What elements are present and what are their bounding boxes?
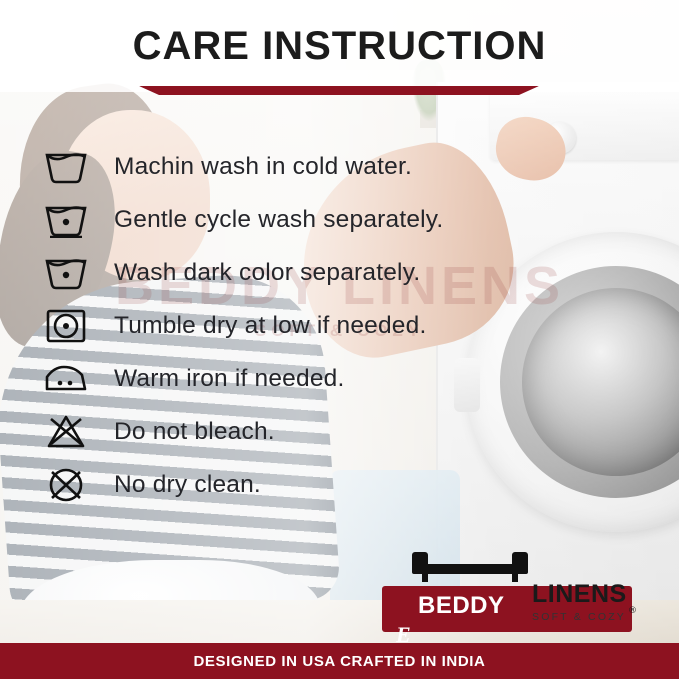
do-not-bleach-icon [40,410,92,454]
tumble-dry-low-icon [40,304,92,348]
instruction-list: Machin wash in cold water. Gentle cycle … [40,140,600,511]
footer-bar: DESIGNED IN USA CRAFTED IN INDIA [0,643,679,679]
brand-logo: E BEDDY LINENS ® SOFT & COZY [382,556,632,642]
care-instruction-card: BEDDY LINENS SOFT & COZY CARE INSTRUCTIO… [0,0,679,679]
registered-mark: ® [628,606,637,616]
footer-text: DESIGNED IN USA CRAFTED IN INDIA [194,653,486,670]
logo-right-block: LINENS ® SOFT & COZY [532,580,636,623]
logo-word: LINENS [532,580,636,609]
list-item-label: Do not bleach. [114,418,275,446]
no-dry-clean-icon [40,463,92,507]
page-title: CARE INSTRUCTION [0,24,679,69]
title-underline-rule [139,86,539,95]
list-item: No dry clean. [40,458,600,511]
list-item-label: Gentle cycle wash separately. [114,206,443,234]
list-item: Gentle cycle wash separately. [40,193,600,246]
machine-wash-icon [40,145,92,189]
logo-tagline: SOFT & COZY [532,611,636,623]
list-item: Machin wash in cold water. [40,140,600,193]
gentle-cycle-wash-icon [40,198,92,242]
list-item-label: Wash dark color separately. [114,259,420,287]
wash-dark-color-icon [40,251,92,295]
logo-brand-name: BEDDY [418,592,505,620]
list-item-label: Tumble dry at low if needed. [114,312,426,340]
list-item: Do not bleach. [40,405,600,458]
list-item: Tumble dry at low if needed. [40,299,600,352]
warm-iron-icon [40,357,92,401]
list-item-label: Warm iron if needed. [114,365,345,393]
list-item: Warm iron if needed. [40,352,600,405]
list-item-label: Machin wash in cold water. [114,153,412,181]
header: CARE INSTRUCTION [0,0,679,92]
list-item-label: No dry clean. [114,471,261,499]
bed-icon [410,550,530,584]
list-item: Wash dark color separately. [40,246,600,299]
